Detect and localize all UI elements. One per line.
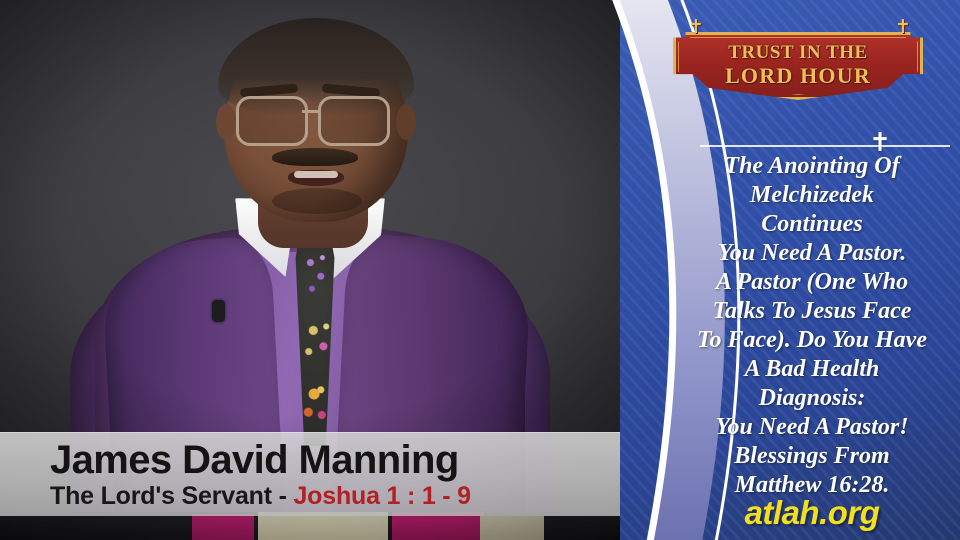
speaker-title-text: The Lord's Servant - — [50, 482, 293, 510]
speaker-subtitle: The Lord's Servant - Joshua 1 : 1 - 9 — [50, 482, 610, 511]
message-line-10: You Need A Pastor! — [668, 413, 956, 442]
ear-left — [216, 104, 236, 140]
message-line-4: You Need A Pastor. — [668, 239, 956, 268]
broadcast-screenshot: TRUST IN THE LORD HOUR ✝ ✝ ✝ The Anointi… — [0, 0, 960, 540]
divider-rule — [700, 145, 950, 147]
desk-object-cream-right — [480, 516, 544, 540]
message-line-8: A Bad Health — [668, 355, 956, 384]
lapel-microphone — [212, 300, 225, 322]
mustache — [272, 148, 358, 166]
eyeglasses-bridge — [302, 110, 320, 113]
necktie-pattern-middle — [294, 308, 340, 374]
eyeglasses-lens-left — [236, 96, 308, 146]
necktie-pattern-lower — [292, 366, 340, 436]
message-line-7: To Face). Do You Have — [668, 326, 956, 355]
message-line-2: Melchizedek — [668, 181, 956, 210]
desk-object-pink-left — [192, 514, 254, 540]
cross-icon-left: ✝ — [688, 18, 702, 38]
speaker-name: James David Manning — [50, 438, 610, 483]
desk-object-pink-right — [392, 512, 484, 540]
eyeglasses-lens-right — [318, 96, 390, 146]
cross-icon-right: ✝ — [895, 18, 909, 38]
message-line-11: Blessings From — [668, 442, 956, 471]
desk-object-cream — [258, 512, 388, 540]
show-title-banner: TRUST IN THE LORD HOUR — [673, 32, 923, 100]
banner-title-line1: TRUST IN THE — [673, 42, 923, 64]
ear-right — [396, 104, 416, 140]
message-line-3: Continues — [668, 210, 956, 239]
sermon-message-text: The Anointing OfMelchizedekContinuesYou … — [668, 152, 956, 500]
teeth — [294, 171, 338, 178]
website-url[interactable]: atlah.org — [668, 494, 956, 532]
message-line-1: The Anointing Of — [668, 152, 956, 181]
banner-title-line2: LORD HOUR — [673, 63, 923, 89]
message-line-6: Talks To Jesus Face — [668, 297, 956, 326]
message-line-9: Diagnosis: — [668, 384, 956, 413]
message-line-5: A Pastor (One Who — [668, 268, 956, 297]
scripture-reference: Joshua 1 : 1 - 9 — [293, 482, 470, 510]
chin-shadow — [272, 188, 362, 214]
necktie-pattern-upper — [296, 244, 336, 306]
